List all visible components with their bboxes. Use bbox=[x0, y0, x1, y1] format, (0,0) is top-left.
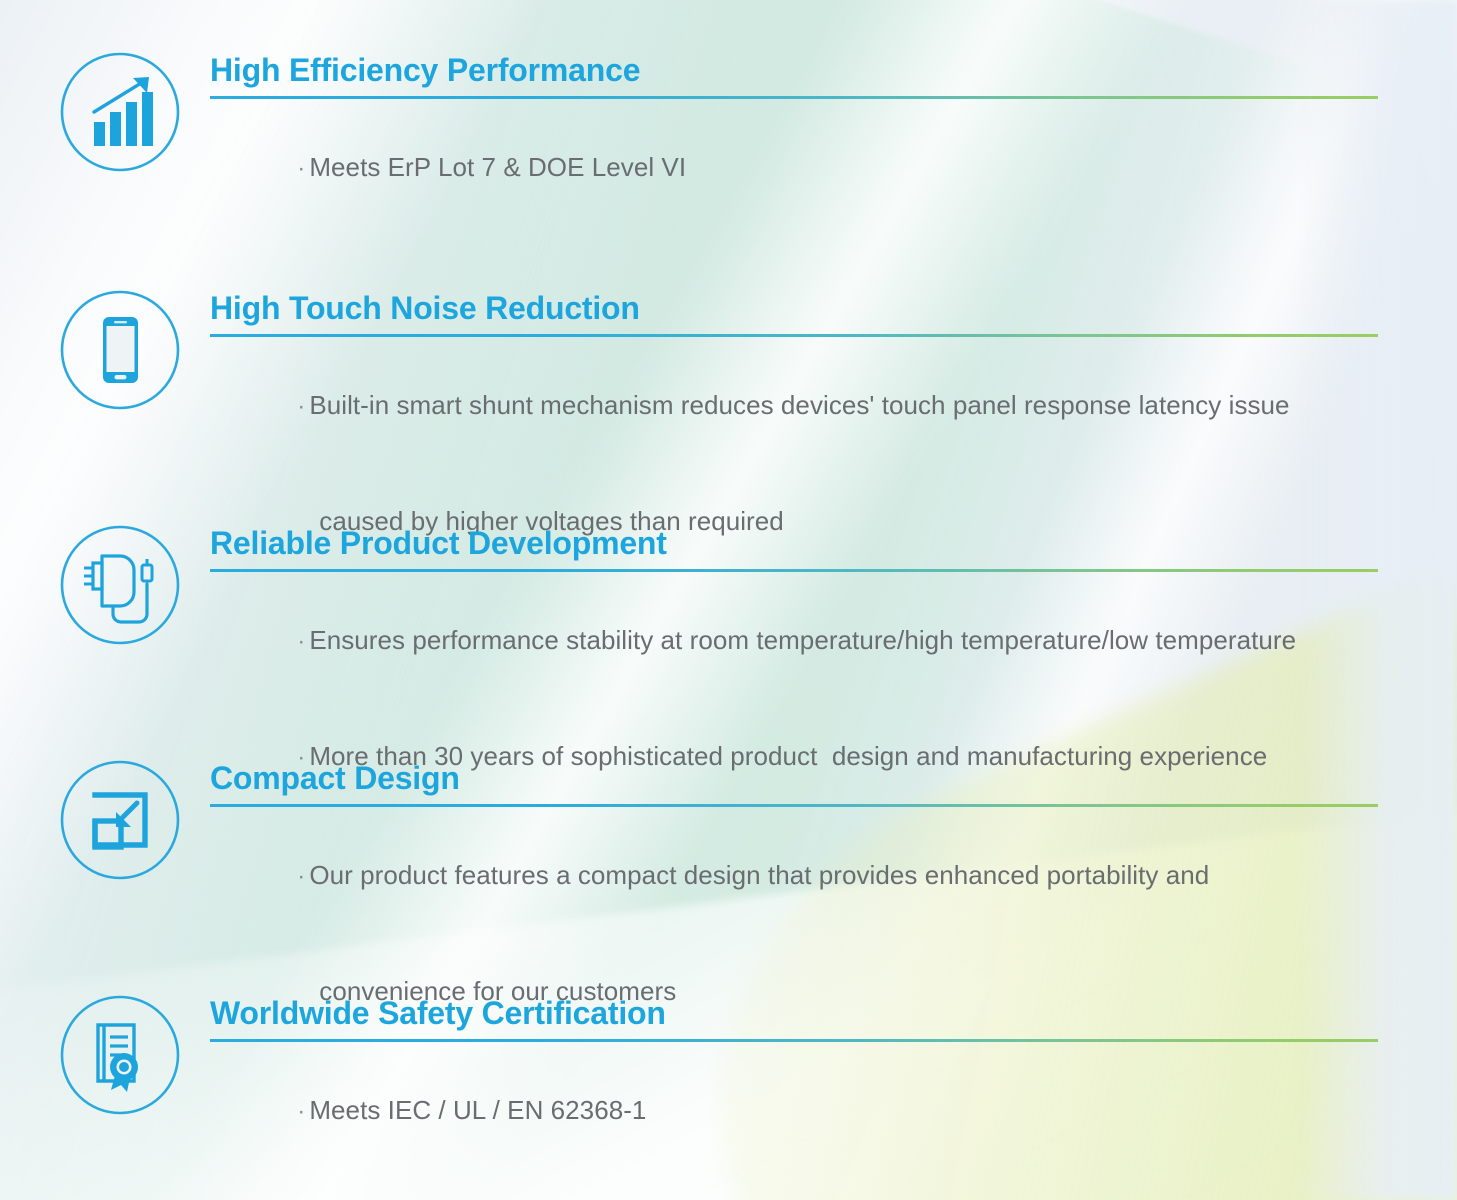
feature-line: ·Meets IEC / UL / EN 62368-1 bbox=[210, 1053, 1378, 1169]
bullet-marker: · bbox=[297, 155, 309, 182]
feature-line: ·Built-in smart shunt mechanism reduces … bbox=[210, 348, 1378, 464]
feature-line-text: Ensures performance stability at room te… bbox=[309, 625, 1296, 655]
smartphone-icon bbox=[58, 288, 182, 412]
feature-line: ·Meets ErP Lot 7 & DOE Level VI bbox=[210, 110, 1378, 226]
feature-body: High Efficiency Performance ·Meets ErP L… bbox=[210, 50, 1378, 226]
feature-title: Worldwide Safety Certification bbox=[210, 993, 1378, 1033]
feature-line-text: Meets ErP Lot 7 & DOE Level VI bbox=[309, 152, 686, 182]
feature-title: High Touch Noise Reduction bbox=[210, 288, 1378, 328]
power-adapter-icon bbox=[58, 523, 182, 647]
bullet-marker: · bbox=[297, 393, 309, 420]
feature-lines: ·Meets ErP Lot 7 & DOE Level VI bbox=[210, 110, 1378, 226]
bar-chart-growth-icon bbox=[58, 50, 182, 174]
feature-title: High Efficiency Performance bbox=[210, 50, 1378, 90]
compact-resize-icon bbox=[58, 758, 182, 882]
feature-divider bbox=[210, 96, 1378, 99]
feature-divider bbox=[210, 804, 1378, 807]
feature-lines: ·Meets IEC / UL / EN 62368-1 bbox=[210, 1053, 1378, 1169]
feature-highlights-page: High Efficiency Performance ·Meets ErP L… bbox=[0, 0, 1457, 1200]
feature-line: ·Our product features a compact design t… bbox=[210, 818, 1378, 934]
bullet-marker: · bbox=[297, 628, 309, 655]
feature-divider bbox=[210, 334, 1378, 337]
certificate-ribbon-icon bbox=[58, 993, 182, 1117]
bullet-marker: · bbox=[297, 1098, 309, 1125]
feature-divider bbox=[210, 569, 1378, 572]
feature-line: ·Ensures performance stability at room t… bbox=[210, 583, 1378, 699]
feature-title: Compact Design bbox=[210, 758, 1378, 798]
feature-body: Worldwide Safety Certification ·Meets IE… bbox=[210, 993, 1378, 1169]
feature-line-text: Built-in smart shunt mechanism reduces d… bbox=[309, 390, 1289, 420]
feature-title: Reliable Product Development bbox=[210, 523, 1378, 563]
feature-line-text: Meets IEC / UL / EN 62368-1 bbox=[309, 1095, 646, 1125]
feature-line-text: Our product features a compact design th… bbox=[309, 860, 1209, 890]
bullet-marker: · bbox=[297, 863, 309, 890]
feature-divider bbox=[210, 1039, 1378, 1042]
